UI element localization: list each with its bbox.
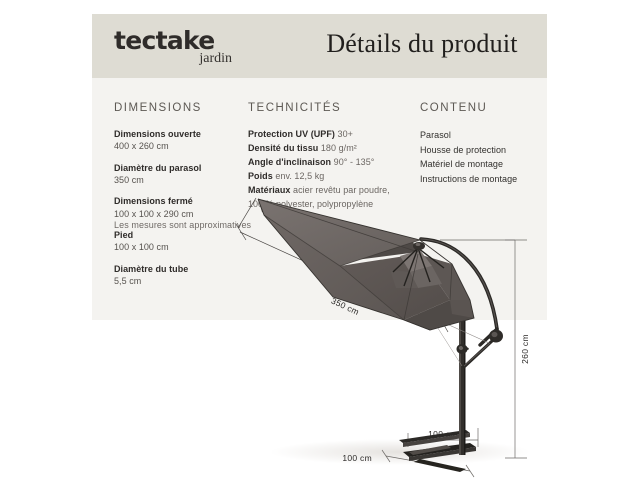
product-detail-sheet: tectake jardin Détails du produit DIMENS…: [0, 0, 640, 480]
spec-label: Protection UV (UPF): [248, 129, 335, 139]
dimension-value: 400 x 260 cm: [114, 140, 264, 153]
parasol-cross-base: [399, 430, 476, 472]
brand-logo-name: tectake: [114, 28, 284, 53]
spec-value: env. 12,5 kg: [275, 171, 324, 181]
dimension-item: Dimensions fermé 100 x 100 x 290 cm: [114, 195, 264, 220]
dimension-item: Diamètre du parasol 350 cm: [114, 162, 264, 187]
measures-disclaimer: Les mesures sont approximatives: [114, 220, 251, 230]
column-heading-dimensions: DIMENSIONS: [114, 102, 264, 114]
spec-row: Densité du tissu 180 g/m²: [248, 142, 413, 156]
spec-label: Matériaux: [248, 185, 290, 195]
dimension-value: 100 x 100 cm: [114, 241, 264, 254]
dimension-label-100cm-width: 100 cm: [428, 429, 458, 439]
spec-value: 90° - 135°: [334, 157, 375, 167]
info-panel: tectake jardin Détails du produit DIMENS…: [92, 14, 547, 320]
spec-row: Poids env. 12,5 kg: [248, 170, 413, 184]
dimension-label: Pied: [114, 229, 264, 241]
column-heading-technicites: TECHNICITÉS: [248, 102, 413, 114]
columns-container: DIMENSIONS Dimensions ouverte 400 x 260 …: [92, 78, 547, 320]
dimension-100cm-depth: [382, 450, 474, 477]
spec-value-continuation: 100 % polyester, polypropylène: [248, 198, 413, 212]
spec-value: 180 g/m²: [321, 143, 357, 153]
content-item: Matériel de montage: [420, 157, 555, 172]
spec-row: Angle d'inclinaison 90° - 135°: [248, 156, 413, 170]
spec-value: 30+: [338, 129, 353, 139]
parasol-support-strut: [464, 341, 492, 367]
content-item: Parasol: [420, 128, 555, 143]
dimension-label-100cm-depth: 100 cm: [342, 453, 372, 463]
arm-joint: [489, 330, 503, 343]
page-title: Détails du produit: [302, 28, 542, 59]
tension-wire: [438, 320, 489, 343]
column-dimensions: DIMENSIONS Dimensions ouverte 400 x 260 …: [114, 102, 264, 297]
spec-label: Angle d'inclinaison: [248, 157, 331, 167]
dimension-item: Diamètre du tube 5,5 cm: [114, 263, 264, 288]
ground-shadow: [270, 439, 530, 465]
spec-row: Matériaux acier revêtu par poudre,: [248, 184, 413, 198]
crank-handle: [457, 344, 470, 354]
dimension-label-260cm: 260 cm: [520, 334, 530, 364]
content-item: Instructions de montage: [420, 172, 555, 187]
content-item: Housse de protection: [420, 143, 555, 158]
dimension-item: Dimensions ouverte 400 x 260 cm: [114, 128, 264, 153]
dimension-label: Diamètre du parasol: [114, 162, 264, 174]
spec-value: acier revêtu par poudre,: [293, 185, 390, 195]
column-heading-contenu: CONTENU: [420, 102, 555, 114]
dimension-value: 350 cm: [114, 174, 264, 187]
column-technicites: TECHNICITÉS Protection UV (UPF) 30+ Dens…: [248, 102, 413, 212]
spec-label: Densité du tissu: [248, 143, 318, 153]
brand-logo: tectake jardin: [114, 28, 284, 66]
spec-label: Poids: [248, 171, 273, 181]
parasol-pole: [459, 300, 466, 455]
dimension-value: 5,5 cm: [114, 275, 264, 288]
column-contenu: CONTENU Parasol Housse de protection Mat…: [420, 102, 555, 186]
dimension-label: Diamètre du tube: [114, 263, 264, 275]
dimension-label: Dimensions fermé: [114, 195, 264, 207]
dimension-value: 100 x 100 x 290 cm: [114, 208, 264, 221]
dimension-item: Pied 100 x 100 cm: [114, 229, 264, 254]
spec-row: Protection UV (UPF) 30+: [248, 128, 413, 142]
dimension-100cm-width: [408, 428, 478, 447]
dimension-label: Dimensions ouverte: [114, 128, 264, 140]
